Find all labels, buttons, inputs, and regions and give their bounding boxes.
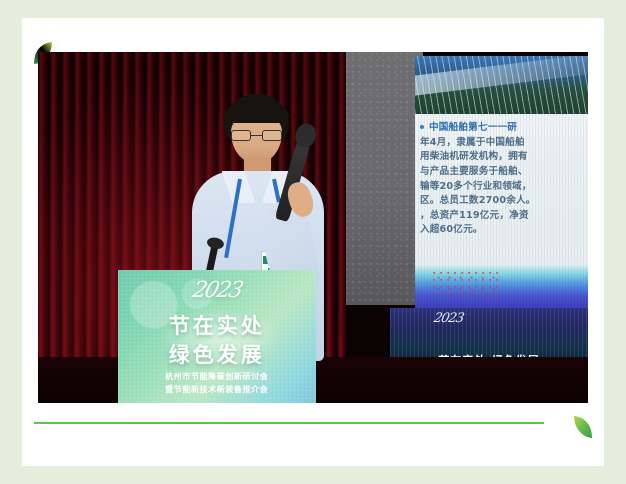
slide-line: 年4月，隶属于中国船舶 [420,136,588,151]
glasses-bridge [251,135,261,136]
slide-footer-image [415,265,588,308]
page-root: 中国船舶第七一一研 年4月，隶属于中国船舶 用柴油机研发机构，拥有 与产品主要服… [0,0,626,484]
slide-line: 区。总员工数2700余人。 [420,194,588,209]
slide-header-image [415,56,588,114]
podium-headline-2: 绿色发展 [118,339,316,369]
leaf-icon [572,414,594,440]
slide-line: 用柴油机研发机构，拥有 [420,150,588,165]
podium-subtitle-2: 暨节能新技术新装备推介会 [118,384,316,395]
slide-bullet-text: 中国船舶第七一一研 [429,122,517,133]
slide-image-posts [415,56,588,114]
glasses-icon [231,130,282,141]
podium-subtitle-1: 杭州市节能降碳创新研讨会 [118,371,316,382]
conference-photo: 中国船舶第七一一研 年4月，隶属于中国船舶 用柴油机研发机构，拥有 与产品主要服… [38,52,588,403]
slide-text-block: 中国船舶第七一一研 年4月，隶属于中国船舶 用柴油机研发机构，拥有 与产品主要服… [420,121,588,238]
podium-banner: 2023 节在实处 绿色发展 杭州市节能降碳创新研讨会 暨节能新技术新装备推介会 [118,270,316,403]
slide-footer-speckle [432,270,501,296]
stage-banner-logo: 2023 [432,311,464,326]
podium-logo: 2023 [118,278,316,303]
slide-line: ，总资产119亿元，净资 [420,209,588,224]
bullet-dot-icon [420,125,424,129]
content-card: 中国船舶第七一一研 年4月，隶属于中国船舶 用柴油机研发机构，拥有 与产品主要服… [22,18,604,466]
slide-line: 入超60亿元。 [420,223,588,238]
glasses-lens-right [262,130,283,141]
projection-screen: 中国船舶第七一一研 年4月，隶属于中国船舶 用柴油机研发机构，拥有 与产品主要服… [415,56,588,309]
glasses-lens-left [231,130,252,141]
footer-rule [34,422,544,424]
microphone-head [293,122,318,150]
podium-headline-1: 节在实处 [118,310,316,340]
wall-panel [346,52,423,305]
slide-line: 输等20多个行业和领域， [420,180,588,195]
slide-line: 与产品主要服务于船舶、 [420,165,588,180]
slide-bullet-line: 中国船舶第七一一研 [420,121,588,136]
